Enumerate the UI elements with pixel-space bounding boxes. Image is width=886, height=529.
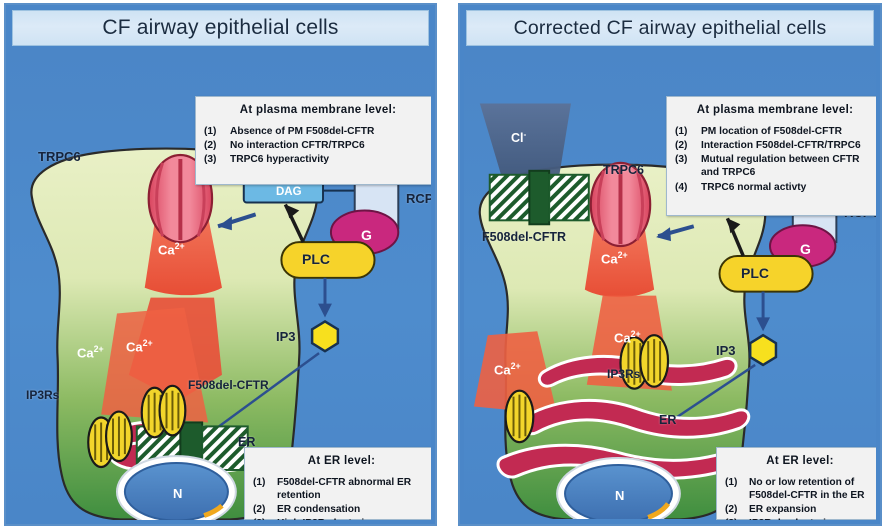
list-item: (1) Absence of PM F508del-CFTR (204, 125, 431, 138)
plc-to-ip3-arrow-right (756, 292, 770, 332)
g-protein-label-left: G (361, 227, 372, 243)
calcium-label-top-left: Ca2+ (158, 241, 185, 257)
list-item: (2) No interaction CFTR/TRPC6 (204, 139, 431, 152)
item-text: TRPC6 normal activty (701, 181, 875, 194)
item-number: (1) (725, 476, 749, 502)
dag-label-left: DAG (276, 186, 302, 198)
list-item: (3) IP3R de-clustering (725, 517, 875, 520)
plc-label-left: PLC (302, 251, 330, 267)
item-text: ER condensation (277, 503, 430, 516)
panel-cf-airway-epithelial-cells: CF airway epithelial cells (4, 3, 437, 526)
panel-body-right: Cl- F508del-CFTR TRPC6 DAG RCPG G PLC IP… (464, 48, 876, 520)
ip3-molecule-left (312, 321, 338, 351)
list-item: (1) PM location of F508del-CFTR (675, 125, 875, 138)
panel-body-left: TRPC6 DAG RCPG G PLC IP3 Ca2+ Ca2+ Ca2+ … (10, 48, 431, 520)
item-number: (3) (204, 153, 230, 166)
item-number: (1) (675, 125, 701, 138)
item-number: (3) (725, 517, 749, 520)
panel-corrected-cf-airway-epithelial-cells: Corrected CF airway epithelial cells (458, 3, 882, 526)
item-number: (2) (204, 139, 230, 152)
item-text: PM location of F508del-CFTR (701, 125, 875, 138)
er-label-right: ER (659, 413, 676, 427)
cftr-plasma-membrane-right (490, 171, 589, 224)
infobox-title: At ER level: (725, 455, 875, 467)
g-protein-label-right: G (800, 241, 811, 257)
item-number: (2) (253, 503, 277, 516)
trpc6-label-right: TRPC6 (603, 163, 644, 177)
item-number: (2) (675, 139, 701, 152)
item-text: Absence of PM F508del-CFTR (230, 125, 431, 138)
item-number: (3) (253, 517, 277, 520)
item-text: IP3R de-clustering (749, 517, 875, 520)
er-infobox-right: At ER level: (1) No or low retention of … (716, 447, 876, 520)
plc-to-ip3-arrow-left (318, 278, 332, 318)
item-text: No interaction CFTR/TRPC6 (230, 139, 431, 152)
item-text: No or low retention of F508del-CFTR in t… (749, 476, 875, 502)
trpc6-label-left: TRPC6 (38, 149, 81, 164)
er-infobox-left: At ER level: (1) F508del-CFTR abnormal E… (244, 447, 431, 520)
infobox-list: (1) No or low retention of F508del-CFTR … (725, 476, 875, 520)
list-item: (1) No or low retention of F508del-CFTR … (725, 476, 875, 502)
item-number: (1) (253, 476, 277, 502)
list-item: (2) Interaction F508del-CFTR/TRPC6 (675, 139, 875, 152)
ip3rs-label-right: IP3Rs (607, 367, 640, 381)
calcium-label-right-right: Ca2+ (614, 329, 641, 345)
plasma-membrane-infobox-left: At plasma membrane level: (1) Absence of… (195, 96, 431, 185)
infobox-title: At plasma membrane level: (204, 104, 431, 116)
calcium-label-top-right: Ca2+ (601, 250, 628, 266)
item-text: Interaction F508del-CFTR/TRPC6 (701, 139, 875, 152)
nucleus-label-left: N (173, 486, 182, 501)
nucleus-label-right: N (615, 488, 624, 503)
cftr-label-right: F508del-CFTR (482, 230, 566, 244)
calcium-label-mid-right-left: Ca2+ (126, 338, 153, 354)
list-item: (3) TRPC6 hyperactivity (204, 153, 431, 166)
ip3rs-label-left: IP3Rs (26, 388, 59, 402)
item-text: Mutual regulation between CFTR and TRPC6 (701, 153, 875, 179)
item-number: (2) (725, 503, 749, 516)
plc-label-right: PLC (741, 265, 769, 281)
list-item: (3) Mutual regulation between CFTR and T… (675, 153, 875, 179)
ip3-label-right: IP3 (716, 343, 736, 358)
rcpg-label-left: RCPG (406, 191, 431, 206)
list-item: (1) F508del-CFTR abnormal ER retention (253, 476, 430, 502)
item-number: (3) (675, 153, 701, 179)
panel-title-left: CF airway epithelial cells (12, 10, 429, 46)
item-number: (1) (204, 125, 230, 138)
item-text: High IP3R clustering (277, 517, 430, 520)
plasma-membrane-infobox-right: At plasma membrane level: (1) PM locatio… (666, 96, 876, 216)
infobox-list: (1) Absence of PM F508del-CFTR (2) No in… (204, 125, 431, 166)
cftr-label-left: F508del-CFTR (188, 378, 269, 392)
infobox-list: (1) F508del-CFTR abnormal ER retention (… (253, 476, 430, 520)
infobox-list: (1) PM location of F508del-CFTR (2) Inte… (675, 125, 875, 194)
item-text: TRPC6 hyperactivity (230, 153, 431, 166)
ip3-molecule-right (750, 335, 776, 365)
infobox-title: At plasma membrane level: (675, 104, 875, 116)
item-text: ER expansion (749, 503, 875, 516)
list-item: (2) ER condensation (253, 503, 430, 516)
infobox-title: At ER level: (253, 455, 430, 467)
figure-root: CF airway epithelial cells (0, 0, 886, 529)
list-item: (4) TRPC6 normal activty (675, 181, 875, 194)
calcium-label-mid-left: Ca2+ (77, 344, 104, 360)
list-item: (2) ER expansion (725, 503, 875, 516)
item-text: F508del-CFTR abnormal ER retention (277, 476, 430, 502)
list-item: (3) High IP3R clustering (253, 517, 430, 520)
panel-title-right: Corrected CF airway epithelial cells (466, 10, 874, 46)
chloride-label-right: Cl- (511, 129, 526, 145)
calcium-label-left-right: Ca2+ (494, 361, 521, 377)
item-number: (4) (675, 181, 701, 194)
ip3-label-left: IP3 (276, 329, 296, 344)
